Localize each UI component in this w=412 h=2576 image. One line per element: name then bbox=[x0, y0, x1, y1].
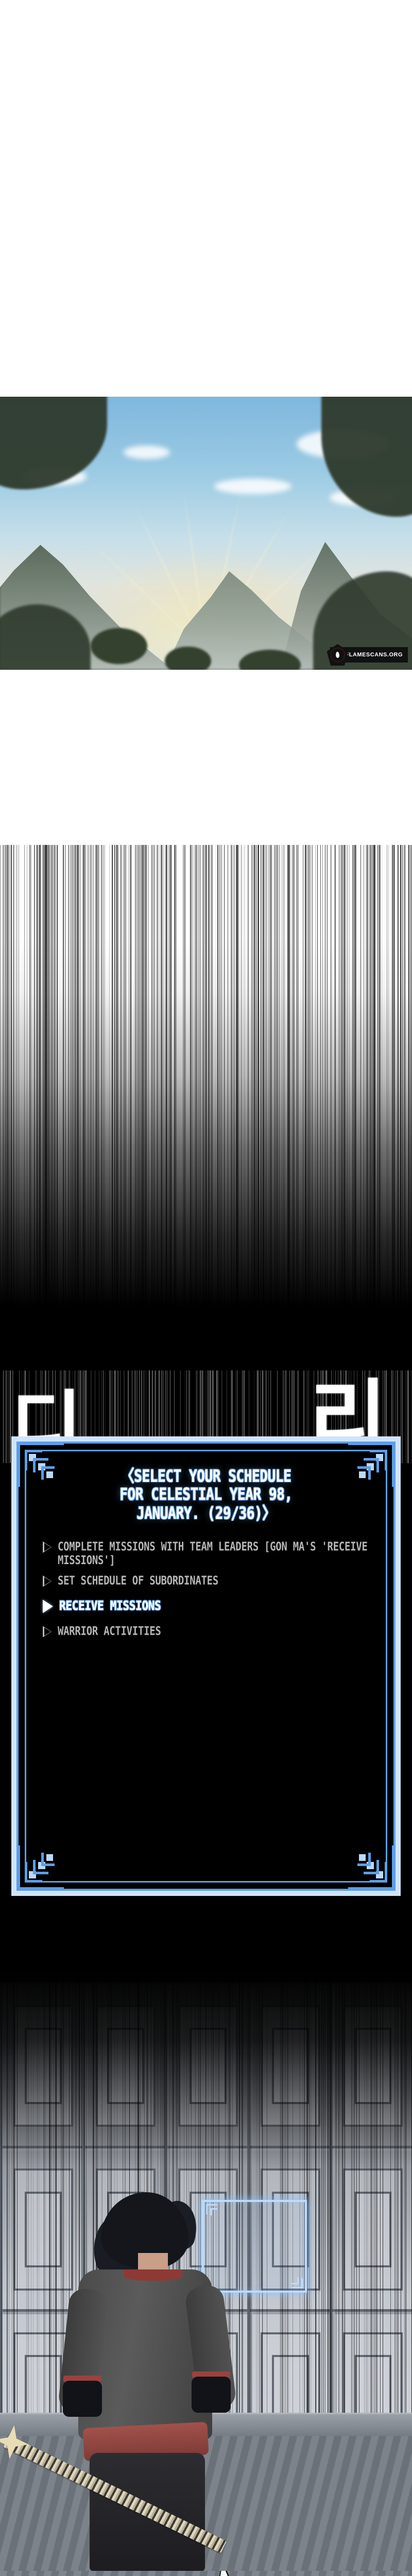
hollow-triangle-icon bbox=[43, 1541, 51, 1553]
cloud bbox=[214, 479, 291, 494]
window-title-line: FOR CELESTIAL YEAR 98, bbox=[39, 1486, 373, 1505]
floor-strip bbox=[0, 2571, 412, 2576]
robe-collar bbox=[124, 2269, 182, 2281]
menu-item-complete-missions[interactable]: COMPLETE MISSIONS WITH TEAM LEADERS [GON… bbox=[39, 1540, 373, 1563]
panel-dialogue: ALRIGHT, SHALL I BEGIN AGAIN? bbox=[0, 2571, 412, 2576]
flame-ring bbox=[331, 648, 345, 662]
menu-item-warrior-activities[interactable]: WARRIOR ACTIVITIES bbox=[39, 1624, 373, 1637]
forearm-wrap bbox=[63, 2381, 102, 2417]
panel-system-window: 디 리 bbox=[0, 1370, 412, 1958]
solid-triangle-icon bbox=[43, 1600, 53, 1613]
forearm-wrap bbox=[192, 2377, 231, 2413]
window-title-line: 〈SELECT YOUR SCHEDULE bbox=[39, 1468, 373, 1486]
hollow-triangle-icon bbox=[43, 1575, 51, 1587]
window-title-line: JANUARY. (29/36)〉 bbox=[39, 1505, 373, 1523]
ceiling-shadow bbox=[0, 1958, 412, 2166]
speech-bubble-tail bbox=[215, 2571, 240, 2576]
window-title: 〈SELECT YOUR SCHEDULE FOR CELESTIAL YEAR… bbox=[39, 1468, 373, 1523]
panel-speedline-transition bbox=[0, 845, 412, 1370]
protagonist-figure-back-view bbox=[61, 2192, 231, 2571]
menu-item-label: COMPLETE MISSIONS WITH TEAM LEADERS [GON… bbox=[58, 1540, 373, 1567]
menu-item-label: RECEIVE MISSIONS bbox=[59, 1598, 161, 1613]
panel-sunrise-landscape: FLAMESCANS.ORG bbox=[0, 397, 412, 670]
menu-item-receive-missions[interactable]: RECEIVE MISSIONS bbox=[39, 1598, 373, 1613]
menu-item-label: WARRIOR ACTIVITIES bbox=[58, 1624, 161, 1638]
window-content: 〈SELECT YOUR SCHEDULE FOR CELESTIAL YEAR… bbox=[25, 1450, 387, 1883]
flame-icon bbox=[327, 644, 349, 666]
webtoon-page: FLAMESCANS.ORG 디 리 bbox=[0, 0, 412, 2576]
corner-ornament-small bbox=[285, 2273, 303, 2289]
speed-lines bbox=[0, 845, 412, 1370]
menu-item-set-schedule-subordinates[interactable]: SET SCHEDULE OF SUBORDINATES bbox=[39, 1574, 373, 1587]
watermark-label: FLAMESCANS.ORG bbox=[346, 652, 403, 658]
flame-shape bbox=[336, 652, 340, 658]
scanlation-watermark: FLAMESCANS.ORG bbox=[330, 647, 408, 663]
panel-hall-interior bbox=[0, 1958, 412, 2571]
schedule-menu: COMPLETE MISSIONS WITH TEAM LEADERS [GON… bbox=[39, 1540, 373, 1637]
hollow-triangle-icon bbox=[43, 1626, 51, 1637]
leaf-cluster bbox=[91, 628, 147, 664]
menu-item-label: SET SCHEDULE OF SUBORDINATES bbox=[58, 1574, 218, 1587]
system-window[interactable]: 〈SELECT YOUR SCHEDULE FOR CELESTIAL YEAR… bbox=[11, 1436, 401, 1896]
